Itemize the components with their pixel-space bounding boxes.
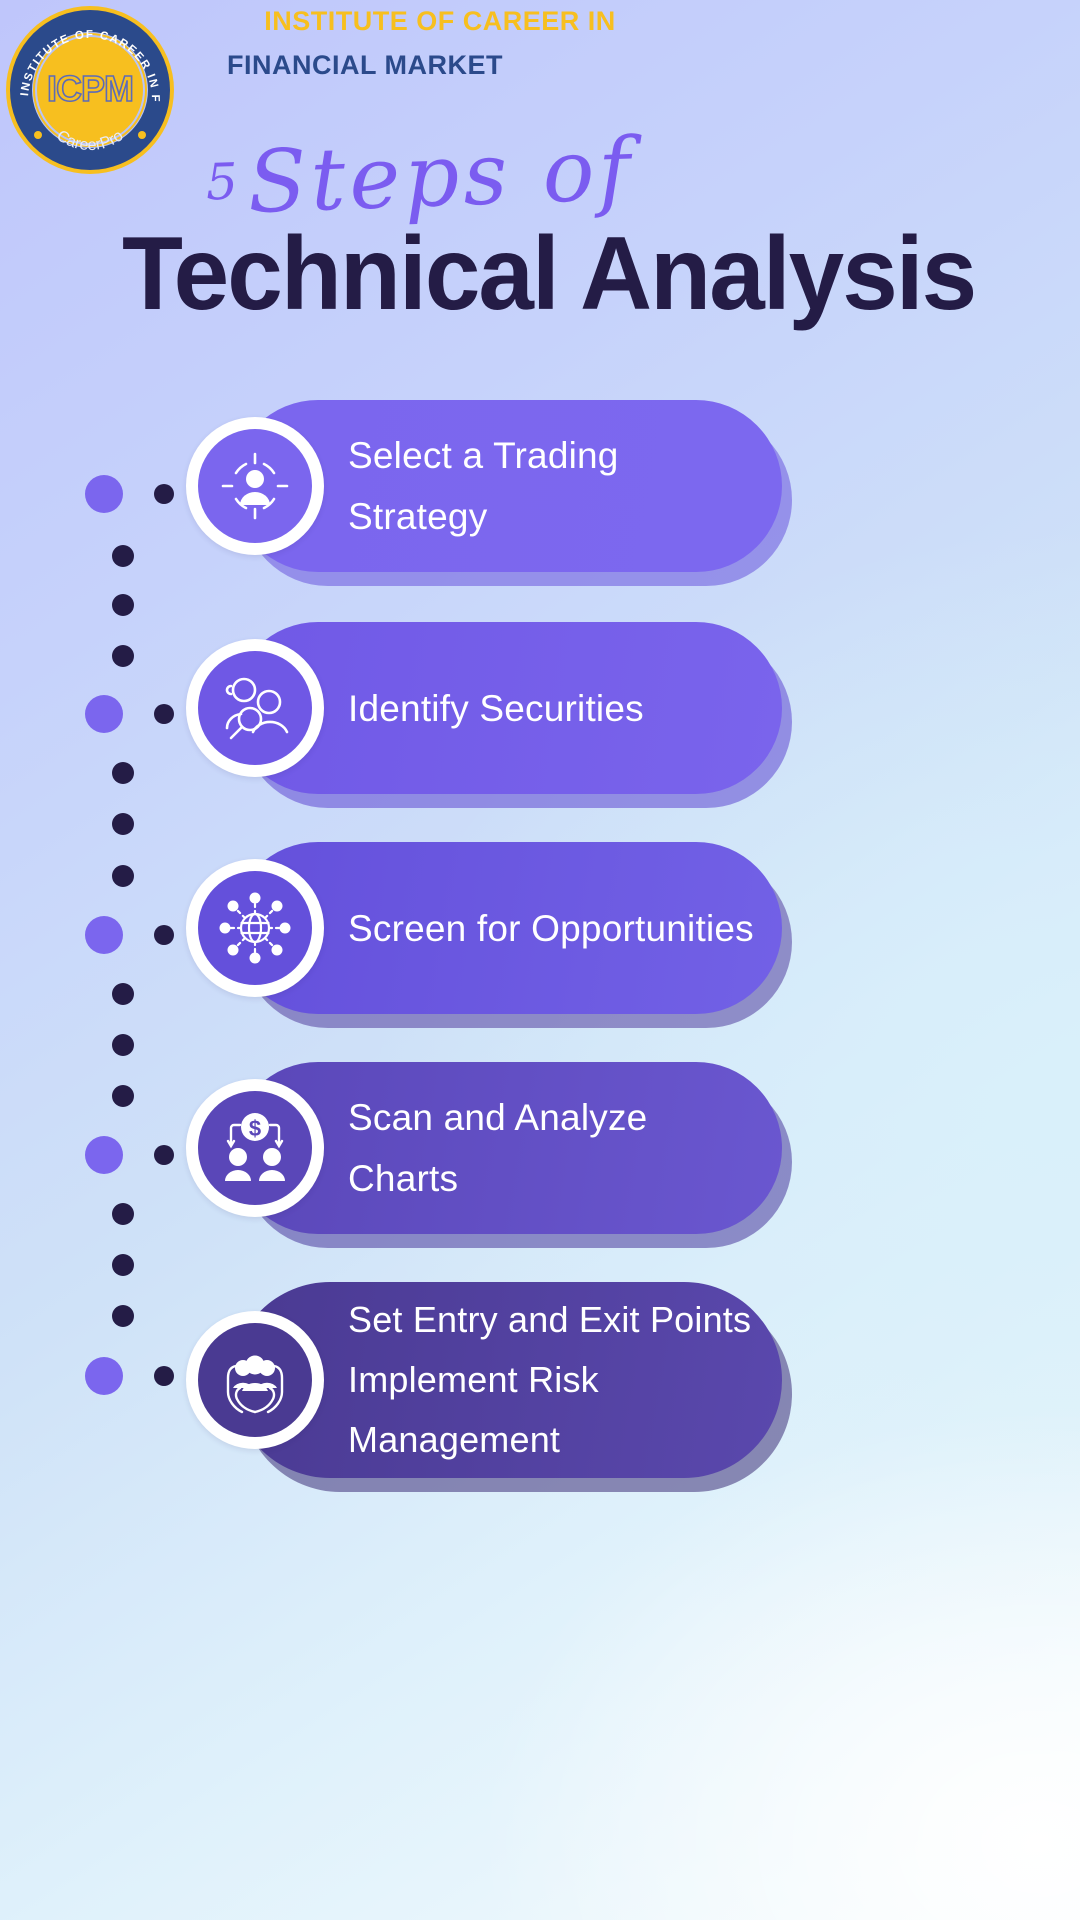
step-item-2[interactable]: Identify Securities <box>232 622 792 794</box>
step-icon-ring-2 <box>186 639 324 777</box>
infographic-poster: INSTITUTE OF CAREER IN FINANCIAL MARKET … <box>0 0 1080 1920</box>
target-person-icon <box>198 429 312 543</box>
step-icon-ring-4: $ <box>186 1079 324 1217</box>
step-item-3[interactable]: Screen for Opportunities <box>232 842 792 1014</box>
people-search-icon <box>198 651 312 765</box>
step-icon-ring-5 <box>186 1311 324 1449</box>
globe-network-icon <box>198 871 312 985</box>
dollar-distribution-icon: $ <box>198 1091 312 1205</box>
step-icon-ring-1 <box>186 417 324 555</box>
svg-text:$: $ <box>249 1116 261 1141</box>
step-item-5[interactable]: Set Entry and Exit Points Implement Risk… <box>232 1282 792 1478</box>
steps-list: Select a Trading Strategy <box>0 0 1080 1920</box>
step-item-1[interactable]: Select a Trading Strategy <box>232 400 792 572</box>
step-icon-ring-3 <box>186 859 324 997</box>
step-item-4[interactable]: Scan and Analyze Charts $ <box>232 1062 792 1234</box>
hands-holding-people-icon <box>198 1323 312 1437</box>
